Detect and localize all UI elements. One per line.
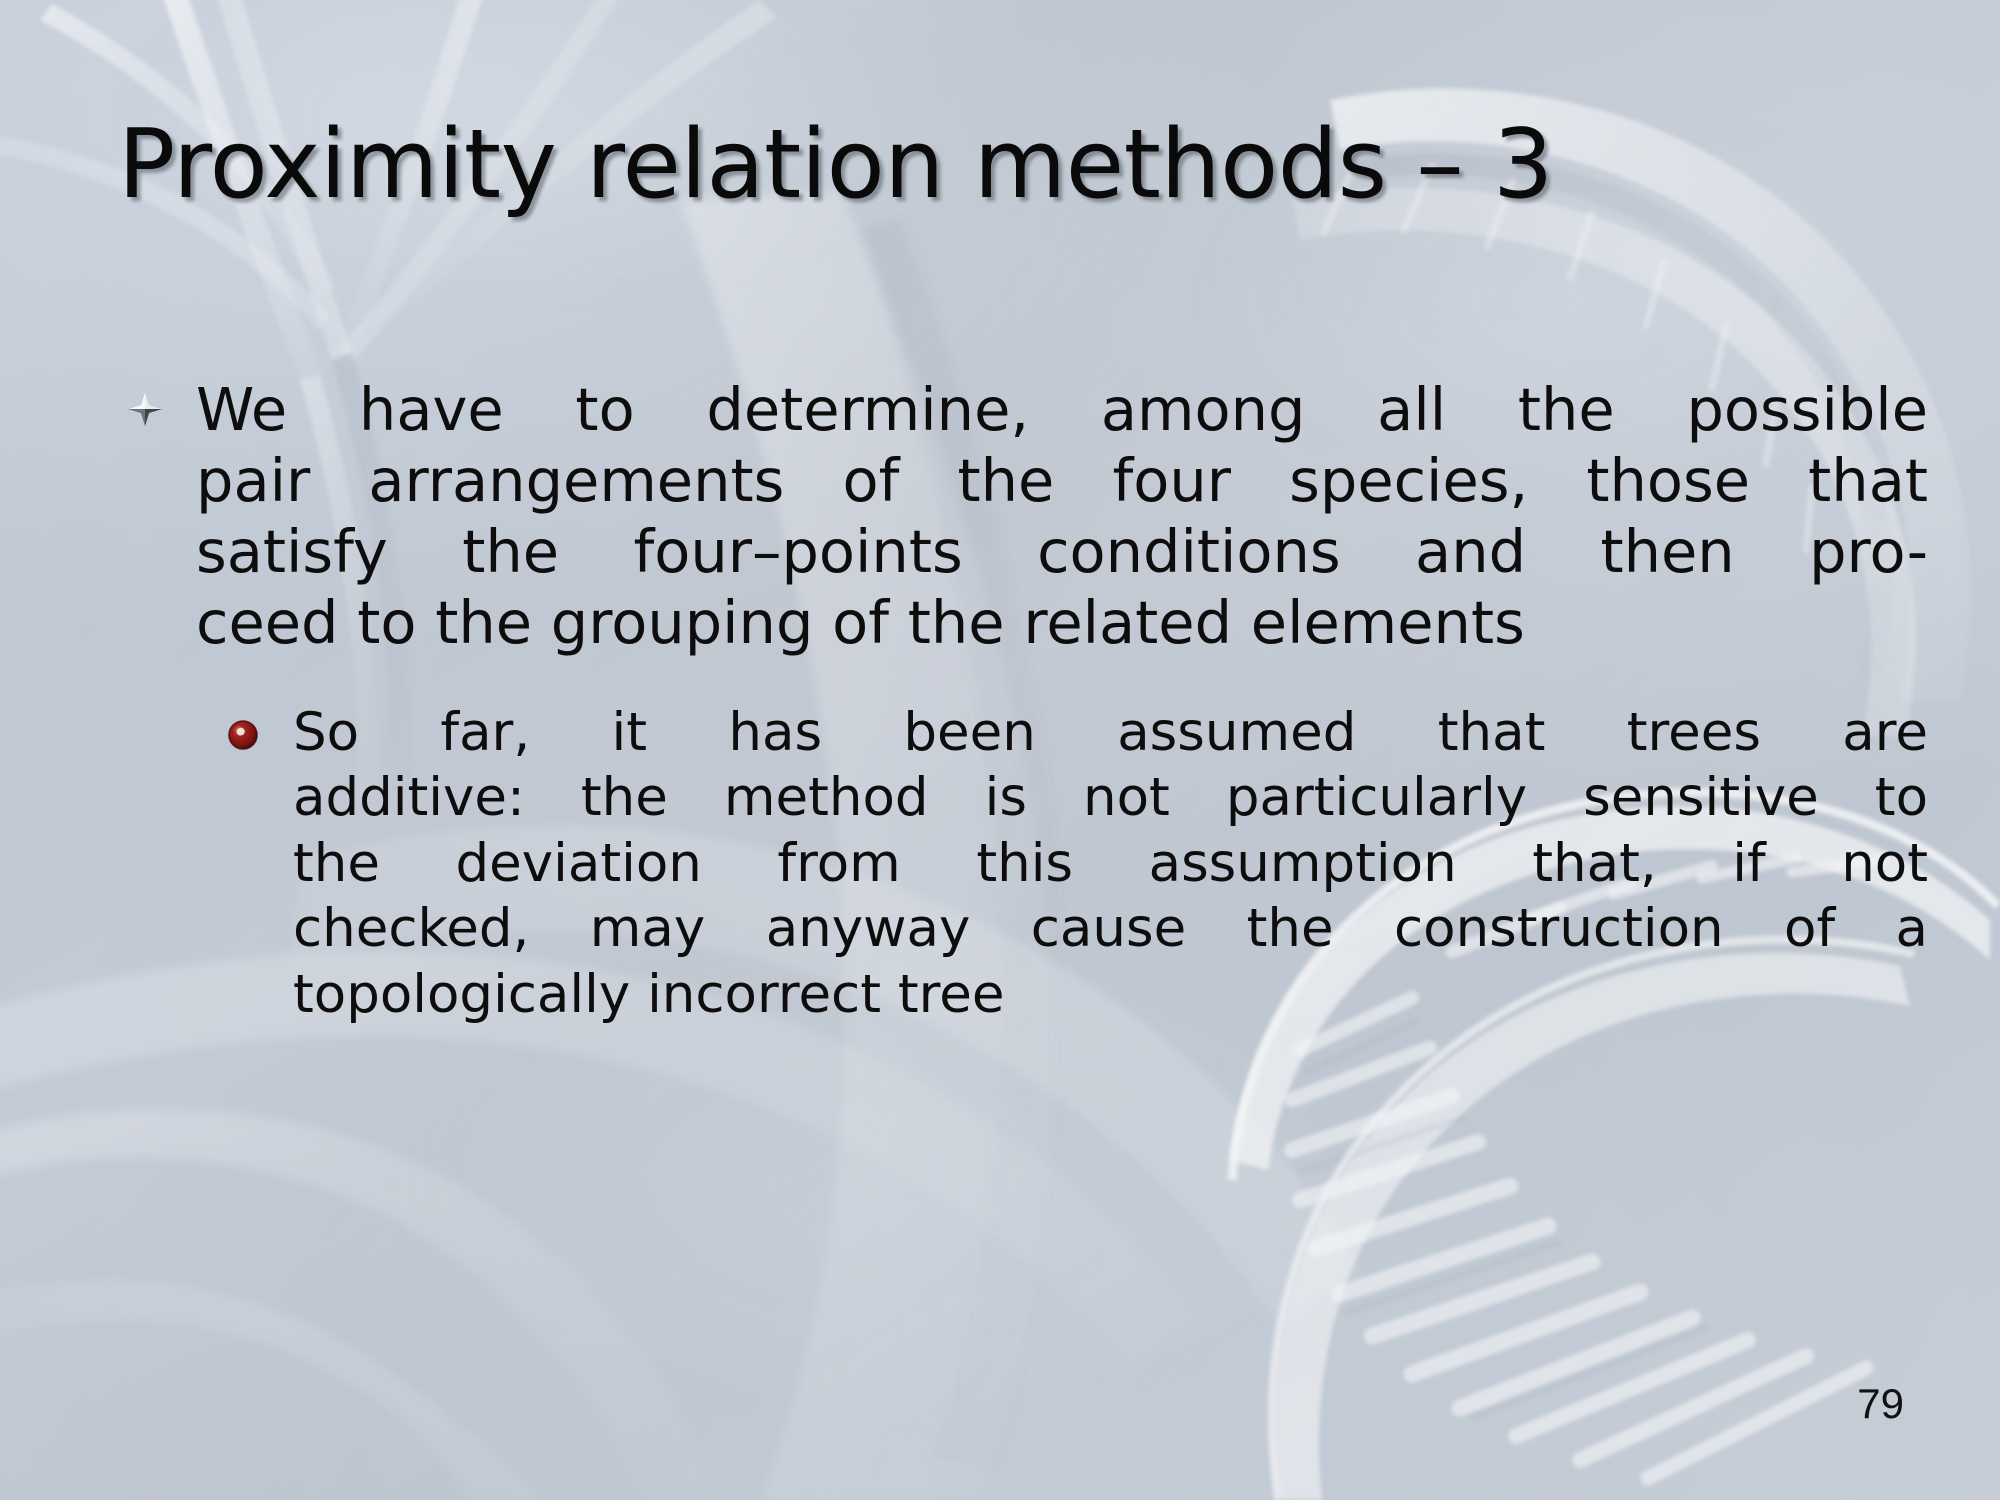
bullet-level1-line: satisfy the four–points conditions and t… <box>196 516 1928 587</box>
bullet-level2-line: checked, may anyway cause the constructi… <box>293 896 1928 961</box>
bullet-level2-text: So far, it has been assumed that trees a… <box>293 700 1928 1027</box>
bullet-level1-line: We have to determine, among all the poss… <box>196 374 1928 445</box>
bullet-item-level2: So far, it has been assumed that trees a… <box>228 700 1928 1027</box>
bullet-level2-line: the deviation from this assumption that,… <box>293 831 1928 896</box>
bullet-item-level1: We have to determine, among all the poss… <box>128 374 1928 658</box>
slide-page-number: 79 <box>1857 1380 1904 1428</box>
four-point-star-bullet-icon <box>128 392 162 426</box>
presentation-slide: Proximity relation methods – 3 We have t… <box>0 0 2000 1500</box>
bullet-level2-line: So far, it has been assumed that trees a… <box>293 700 1928 765</box>
bullet-level2-line: additive: the method is not particularly… <box>293 765 1928 830</box>
bullet-level1-line: pair arrangements of the four species, t… <box>196 445 1928 516</box>
bullet-level2-line: topologically incorrect tree <box>293 962 1928 1027</box>
red-sphere-bullet-icon <box>228 720 258 750</box>
bullet-level1-line: ceed to the grouping of the related elem… <box>196 587 1928 658</box>
bullet-level1-text: We have to determine, among all the poss… <box>196 374 1928 658</box>
slide-body: We have to determine, among all the poss… <box>0 0 2000 1500</box>
